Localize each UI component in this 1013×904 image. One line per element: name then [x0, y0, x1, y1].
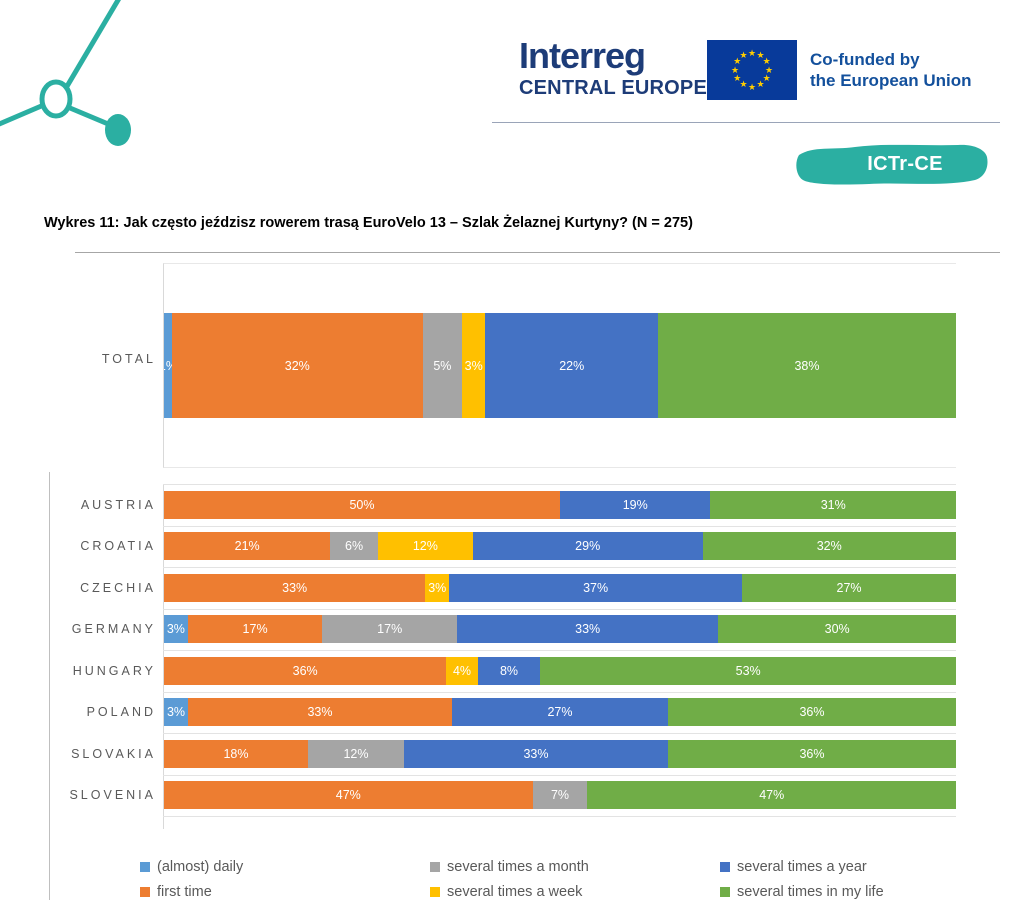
legend-swatch-icon	[140, 862, 150, 872]
bar-segment-label: 32%	[285, 359, 310, 373]
bar-segment-label: 17%	[377, 622, 402, 636]
eu-flag-icon: ★★★★★★★★★★★★	[707, 40, 797, 100]
bar-segment: 53%	[540, 657, 956, 685]
bar-segment: 36%	[668, 740, 956, 768]
bar-segment: 33%	[188, 698, 452, 726]
bar-segment-label: 29%	[575, 539, 600, 553]
bar-segment: 3%	[425, 574, 449, 602]
chart-row: AUSTRIA50%19%31%	[44, 484, 1000, 526]
legend-item[interactable]: several times a month	[430, 859, 720, 875]
bar-segment-label: 33%	[575, 622, 600, 636]
gridline	[163, 526, 956, 527]
bar-segment: 31%	[710, 491, 956, 519]
header: Interreg CENTRAL EUROPE ★★★★★★★★★★★★ Co-…	[0, 0, 1013, 130]
bar-segment-label: 50%	[349, 498, 374, 512]
bar-segment: 33%	[164, 574, 425, 602]
eu-star-icon: ★	[756, 80, 765, 89]
bar-segment-label: 5%	[433, 359, 451, 373]
bar-segment: 12%	[308, 740, 404, 768]
legend-label: (almost) daily	[157, 859, 243, 875]
bar-segment-label: 36%	[799, 705, 824, 719]
chart-row: GERMANY3%17%17%33%30%	[44, 609, 1000, 651]
bar-segment: 17%	[322, 615, 457, 643]
legend-swatch-icon	[430, 862, 440, 872]
bar-segment-label: 21%	[235, 539, 260, 553]
legend-swatch-icon	[430, 887, 440, 897]
bar-segment-label: 30%	[825, 622, 850, 636]
bar-segment: 19%	[560, 491, 710, 519]
bar-segment-label: 33%	[307, 705, 332, 719]
bar-segment-label: 3%	[465, 359, 483, 373]
bar-segment: 21%	[164, 532, 330, 560]
bar-segment: 1%	[164, 313, 172, 418]
country-stacked-bar: 3%17%17%33%30%	[164, 615, 956, 643]
bar-segment-label: 8%	[500, 664, 518, 678]
legend-swatch-icon	[720, 862, 730, 872]
legend-label: several times a year	[737, 859, 867, 875]
bar-segment: 27%	[742, 574, 956, 602]
bar-segment: 27%	[452, 698, 668, 726]
countries-chart: AUSTRIA50%19%31%CROATIA21%6%12%29%32%CZE…	[44, 484, 1000, 844]
eu-funding-line1: Co-funded by	[810, 49, 972, 70]
bar-segment-label: 12%	[343, 747, 368, 761]
eu-funding-text: Co-funded by the European Union	[810, 49, 972, 92]
country-label: SLOVAKIA	[44, 747, 156, 761]
interreg-logo-main: Interreg	[519, 38, 707, 74]
legend-swatch-icon	[140, 887, 150, 897]
legend-item[interactable]: first time	[140, 884, 430, 900]
eu-emblem-block: ★★★★★★★★★★★★ Co-funded by the European U…	[707, 40, 972, 100]
project-badge: ICTr-CE	[793, 141, 993, 187]
chart-row: CZECHIA33%3%37%27%	[44, 567, 1000, 609]
legend-label: several times a month	[447, 859, 589, 875]
interreg-logo: Interreg CENTRAL EUROPE	[519, 38, 707, 98]
gridline	[163, 775, 956, 776]
country-label: CROATIA	[44, 539, 156, 553]
project-badge-label: ICTr-CE	[793, 141, 993, 187]
bar-segment: 22%	[485, 313, 658, 418]
gridline	[163, 733, 956, 734]
bar-segment-label: 17%	[243, 622, 268, 636]
legend-label: several times a week	[447, 884, 582, 900]
gridline	[163, 609, 956, 610]
bar-segment: 47%	[164, 781, 533, 809]
bar-segment: 30%	[718, 615, 956, 643]
bar-segment: 47%	[587, 781, 956, 809]
country-stacked-bar: 47%7%47%	[164, 781, 956, 809]
country-label: AUSTRIA	[44, 498, 156, 512]
bar-segment: 37%	[449, 574, 742, 602]
bar-segment: 5%	[423, 313, 462, 418]
chart-row: SLOVENIA47%7%47%	[44, 775, 1000, 817]
eu-star-icon: ★	[748, 83, 757, 92]
bar-segment-label: 36%	[799, 747, 824, 761]
chart-row: SLOVAKIA18%12%33%36%	[44, 733, 1000, 775]
bar-segment: 3%	[164, 698, 188, 726]
bar-segment-label: 12%	[413, 539, 438, 553]
bar-segment-label: 36%	[293, 664, 318, 678]
bar-segment-label: 27%	[837, 581, 862, 595]
chart-legend: (almost) dailyseveral times a monthsever…	[140, 854, 1000, 904]
country-stacked-bar: 3%33%27%36%	[164, 698, 956, 726]
title-divider	[75, 252, 1000, 253]
gridline	[163, 650, 956, 651]
bar-segment: 4%	[446, 657, 477, 685]
bar-segment: 17%	[188, 615, 323, 643]
bar-segment-label: 22%	[559, 359, 584, 373]
total-row-label: TOTAL	[44, 352, 156, 366]
bar-segment-label: 32%	[817, 539, 842, 553]
total-stacked-bar: 1%32%5%3%22%38%	[164, 313, 956, 418]
country-label: GERMANY	[44, 622, 156, 636]
bar-segment: 36%	[668, 698, 956, 726]
bar-segment: 50%	[164, 491, 560, 519]
total-chart: TOTAL 1%32%5%3%22%38%	[44, 258, 1000, 470]
bar-segment-label: 33%	[523, 747, 548, 761]
legend-item[interactable]: several times a week	[430, 884, 720, 900]
bar-segment: 3%	[164, 615, 188, 643]
bar-segment-label: 3%	[167, 622, 185, 636]
eu-star-icon: ★	[733, 74, 742, 83]
bar-segment-label: 3%	[428, 581, 446, 595]
legend-swatch-icon	[720, 887, 730, 897]
eu-star-icon: ★	[731, 66, 740, 75]
bar-segment: 3%	[462, 313, 486, 418]
gridline	[163, 692, 956, 693]
country-label: HUNGARY	[44, 664, 156, 678]
bar-segment-label: 31%	[821, 498, 846, 512]
bar-segment: 38%	[658, 313, 956, 418]
bar-segment: 32%	[172, 313, 423, 418]
bar-segment: 29%	[473, 532, 703, 560]
legend-item[interactable]: (almost) daily	[140, 859, 430, 875]
legend-item[interactable]: several times a year	[720, 859, 1000, 875]
legend-item[interactable]: several times in my life	[720, 884, 1000, 900]
bar-segment-label: 6%	[345, 539, 363, 553]
bar-segment-label: 37%	[583, 581, 608, 595]
bar-segment-label: 4%	[453, 664, 471, 678]
chart-row: HUNGARY36%4%8%53%	[44, 650, 1000, 692]
bar-segment: 36%	[164, 657, 446, 685]
bar-segment: 7%	[533, 781, 588, 809]
legend-label: first time	[157, 884, 212, 900]
gridline	[163, 816, 956, 817]
bar-segment-label: 18%	[223, 747, 248, 761]
bar-segment-label: 19%	[623, 498, 648, 512]
bar-segment: 18%	[164, 740, 308, 768]
page-title: Wykres 11: Jak często jeździsz rowerem t…	[44, 215, 693, 231]
country-stacked-bar: 21%6%12%29%32%	[164, 532, 956, 560]
bar-segment: 33%	[404, 740, 668, 768]
country-stacked-bar: 33%3%37%27%	[164, 574, 956, 602]
eu-star-icon: ★	[739, 51, 748, 60]
bar-segment: 32%	[703, 532, 956, 560]
bar-segment: 33%	[457, 615, 718, 643]
bar-segment-label: 3%	[167, 705, 185, 719]
bar-segment: 6%	[330, 532, 378, 560]
bar-segment-label: 53%	[736, 664, 761, 678]
country-label: CZECHIA	[44, 581, 156, 595]
bar-segment-label: 27%	[547, 705, 572, 719]
eu-funding-line2: the European Union	[810, 70, 972, 91]
bar-segment: 12%	[378, 532, 473, 560]
chart-row: POLAND3%33%27%36%	[44, 692, 1000, 734]
bar-segment-label: 7%	[551, 788, 569, 802]
interreg-logo-sub: CENTRAL EUROPE	[519, 78, 707, 98]
bar-segment-label: 33%	[282, 581, 307, 595]
legend-label: several times in my life	[737, 884, 884, 900]
bar-segment-label: 47%	[336, 788, 361, 802]
country-stacked-bar: 18%12%33%36%	[164, 740, 956, 768]
bar-segment: 8%	[478, 657, 541, 685]
gridline	[163, 484, 956, 485]
country-label: SLOVENIA	[44, 788, 156, 802]
bar-segment-label: 1%	[164, 359, 172, 373]
bar-segment-label: 38%	[794, 359, 819, 373]
bar-segment-label: 47%	[759, 788, 784, 802]
chart-row: CROATIA21%6%12%29%32%	[44, 526, 1000, 568]
country-label: POLAND	[44, 705, 156, 719]
country-stacked-bar: 36%4%8%53%	[164, 657, 956, 685]
header-divider	[492, 122, 1000, 123]
country-stacked-bar: 50%19%31%	[164, 491, 956, 519]
gridline	[163, 567, 956, 568]
